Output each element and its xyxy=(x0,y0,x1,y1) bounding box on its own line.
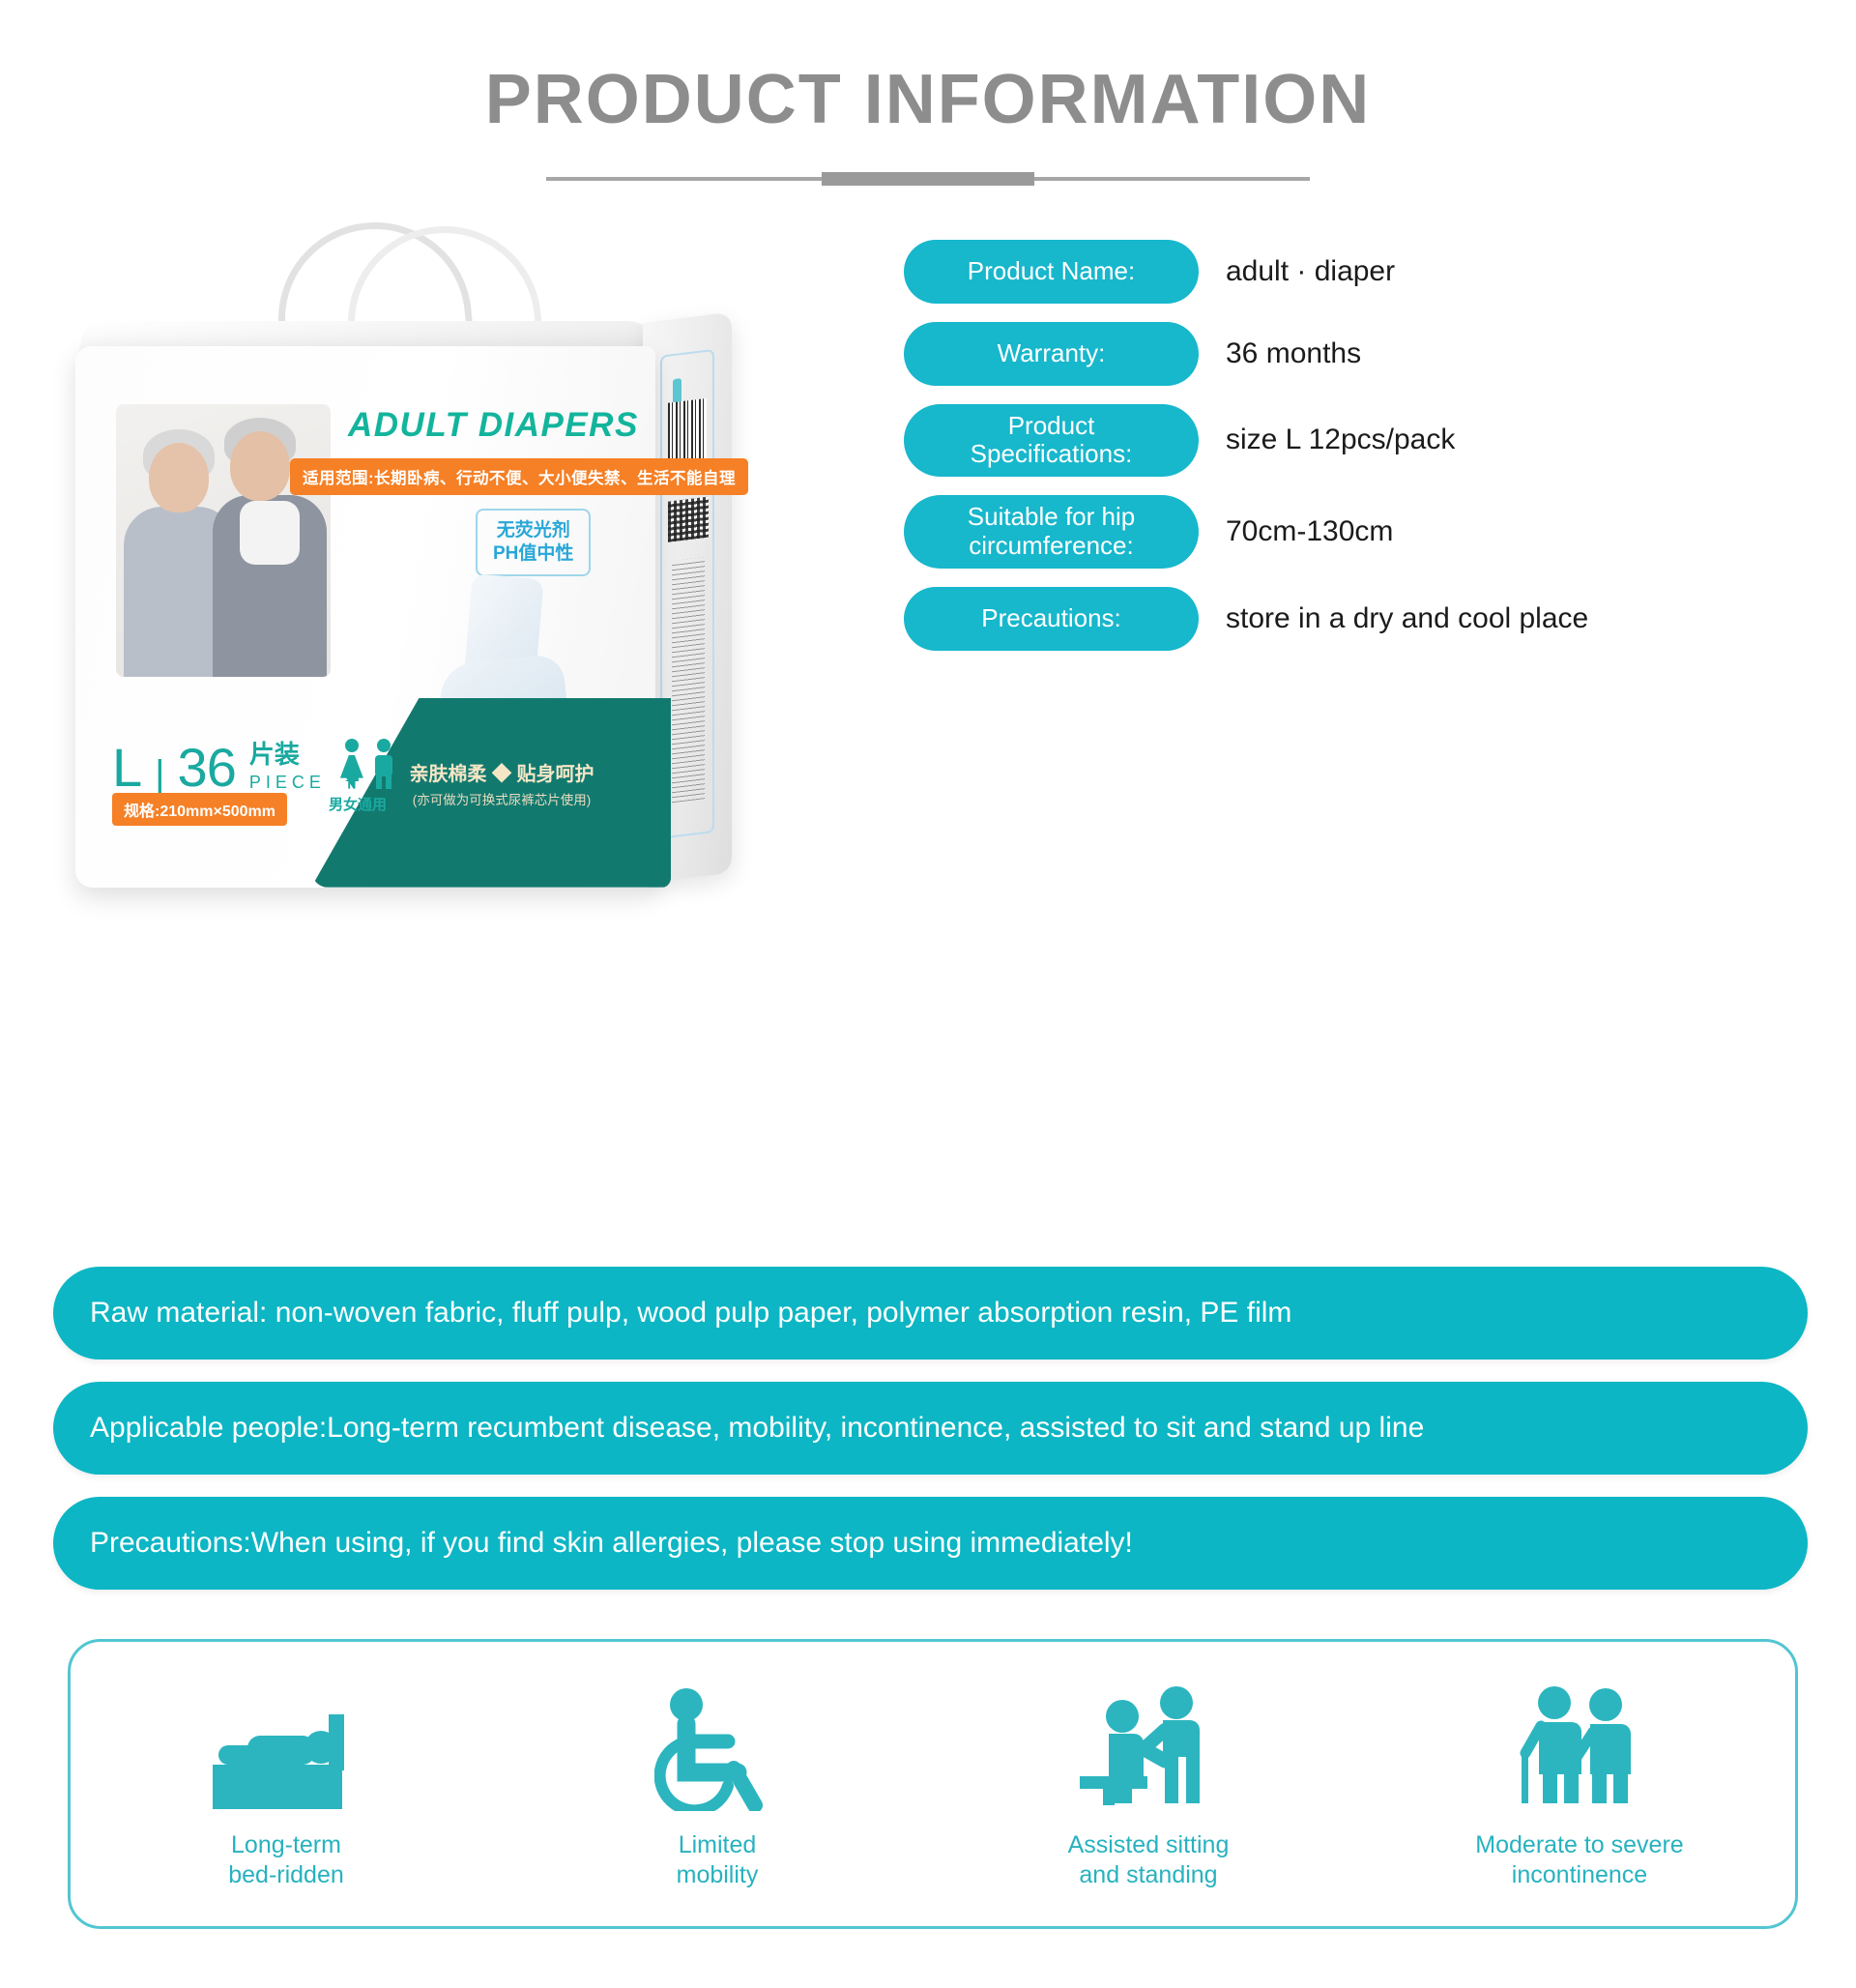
photo-person-left-head xyxy=(149,443,209,512)
male-icon-head xyxy=(377,739,391,752)
assisted-sitting-icon xyxy=(1076,1683,1221,1811)
spec-label-hip-circumference-line1: Suitable for hip xyxy=(968,503,1135,532)
spec-value-hip-circumference: 70cm-130cm xyxy=(1199,514,1803,549)
side-fineprint-text xyxy=(672,557,705,803)
package-size-count: 36 xyxy=(178,743,236,793)
photo-person-right-shirt xyxy=(240,501,300,565)
spec-row-precautions: Precautions: store in a dry and cool pla… xyxy=(904,587,1803,651)
package-teal-wedge: 亲肤棉柔 ◆ 贴身呵护 (亦可做为可换式尿裤芯片使用) xyxy=(311,698,671,888)
spec-row-warranty: Warranty: 36 months xyxy=(904,322,1803,386)
spec-label-hip-circumference: Suitable for hip circumference: xyxy=(904,495,1199,569)
elderly-couple-photo xyxy=(116,404,331,677)
male-icon-legs xyxy=(376,775,391,789)
feature-ph-neutral: PH值中性 xyxy=(493,542,573,566)
package-gender-label: 男女通用 xyxy=(329,794,387,814)
info-banners: Raw material: non-woven fabric, fluff pu… xyxy=(53,1267,1808,1612)
use-case-incontinence: Moderate to severe incontinence xyxy=(1364,1642,1795,1926)
use-case-bed-ridden-caption: Long-term bed-ridden xyxy=(228,1830,344,1891)
use-case-limited-mobility-line1: Limited xyxy=(677,1830,759,1860)
package-size-piece: PIECE xyxy=(249,773,326,793)
use-case-bed-ridden: Long-term bed-ridden xyxy=(71,1642,502,1926)
banner-precautions: Precautions:When using, if you find skin… xyxy=(53,1497,1808,1590)
use-case-limited-mobility-caption: Limited mobility xyxy=(677,1830,759,1891)
spec-value-product-name: adult · diaper xyxy=(1199,254,1803,289)
spec-label-product-specifications: Product Specifications: xyxy=(904,404,1199,478)
spec-label-product-specifications-line1: Product xyxy=(971,412,1133,441)
use-case-assisted-sitting: Assisted sitting and standing xyxy=(933,1642,1364,1926)
package-brand-title: ADULT DIAPERS xyxy=(348,406,639,445)
bed-ridden-icon xyxy=(209,1683,363,1811)
use-case-assisted-sitting-line1: Assisted sitting xyxy=(1068,1830,1230,1860)
package-usage-scope-band: 适用范围:长期卧病、行动不便、大小便失禁、生活不能自理 xyxy=(290,458,748,495)
spec-value-warranty: 36 months xyxy=(1199,336,1803,371)
page-header: PRODUCT INFORMATION xyxy=(0,0,1856,186)
product-package-image: ADULT DIAPERS 适用范围:长期卧病、行动不便、大小便失禁、生活不能自… xyxy=(58,201,870,965)
female-icon xyxy=(339,739,364,789)
spec-label-warranty: Warranty: xyxy=(904,322,1199,386)
spec-value-product-specifications: size L 12pcs/pack xyxy=(1199,423,1803,457)
female-icon-body xyxy=(340,755,363,778)
spec-row-hip-circumference: Suitable for hip circumference: 70cm-130… xyxy=(904,495,1803,569)
package-size-row: L | 36 片装 PIECE xyxy=(112,735,396,793)
female-icon-head xyxy=(345,739,359,752)
spec-label-product-name: Product Name: xyxy=(904,240,1199,304)
package-size-divider: | xyxy=(155,757,163,793)
use-case-incontinence-line2: incontinence xyxy=(1475,1860,1683,1890)
use-case-assisted-sitting-line2: and standing xyxy=(1068,1860,1230,1890)
bag-front-face: ADULT DIAPERS 适用范围:长期卧病、行动不便、大小便失禁、生活不能自… xyxy=(75,346,655,888)
package-dimension-band: 规格:210mm×500mm xyxy=(112,793,287,826)
wheelchair-icon xyxy=(654,1683,780,1811)
feature-no-fluorescent: 无荧光剂 xyxy=(493,519,573,542)
package-feature-box: 无荧光剂 PH值中性 xyxy=(476,509,591,577)
use-case-incontinence-line1: Moderate to severe xyxy=(1475,1830,1683,1860)
male-icon xyxy=(371,739,396,789)
qr-code-icon xyxy=(668,496,709,541)
use-case-limited-mobility-line2: mobility xyxy=(677,1860,759,1890)
male-icon-body xyxy=(375,755,392,776)
elderly-walking-icon xyxy=(1512,1683,1647,1811)
use-case-panel: Long-term bed-ridden Limited mobility xyxy=(68,1639,1798,1929)
banner-raw-material: Raw material: non-woven fabric, fluff pu… xyxy=(53,1267,1808,1359)
title-divider xyxy=(546,172,1310,186)
use-case-bed-ridden-line2: bed-ridden xyxy=(228,1860,344,1890)
spec-row-product-specifications: Product Specifications: size L 12pcs/pac… xyxy=(904,404,1803,478)
page-title: PRODUCT INFORMATION xyxy=(0,64,1856,137)
use-case-limited-mobility: Limited mobility xyxy=(502,1642,933,1926)
package-size-letter: L xyxy=(112,743,141,793)
spec-label-product-specifications-line2: Specifications: xyxy=(971,440,1133,469)
use-case-bed-ridden-line1: Long-term xyxy=(228,1830,344,1860)
banner-applicable-people: Applicable people:Long-term recumbent di… xyxy=(53,1382,1808,1475)
specifications-table: Product Name: adult · diaper Warranty: 3… xyxy=(904,240,1803,670)
product-overview-section: ADULT DIAPERS 适用范围:长期卧病、行动不便、大小便失禁、生活不能自… xyxy=(0,230,1856,946)
divider-center-block xyxy=(822,172,1034,186)
package-tagline-main: 亲肤棉柔 ◆ 贴身呵护 xyxy=(352,758,652,786)
spec-label-precautions: Precautions: xyxy=(904,587,1199,651)
gender-icons-group xyxy=(339,739,396,793)
use-case-incontinence-caption: Moderate to severe incontinence xyxy=(1475,1830,1683,1891)
spec-row-product-name: Product Name: adult · diaper xyxy=(904,240,1803,304)
package-tagline-sub: (亦可做为可换式尿裤芯片使用) xyxy=(352,789,652,808)
photo-person-right-head xyxy=(230,431,290,501)
use-case-assisted-sitting-caption: Assisted sitting and standing xyxy=(1068,1830,1230,1891)
spec-label-hip-circumference-line2: circumference: xyxy=(968,532,1135,561)
female-icon-legs xyxy=(345,776,359,789)
package-size-cn: 片装 xyxy=(249,735,326,771)
spec-value-precautions: store in a dry and cool place xyxy=(1199,601,1803,636)
